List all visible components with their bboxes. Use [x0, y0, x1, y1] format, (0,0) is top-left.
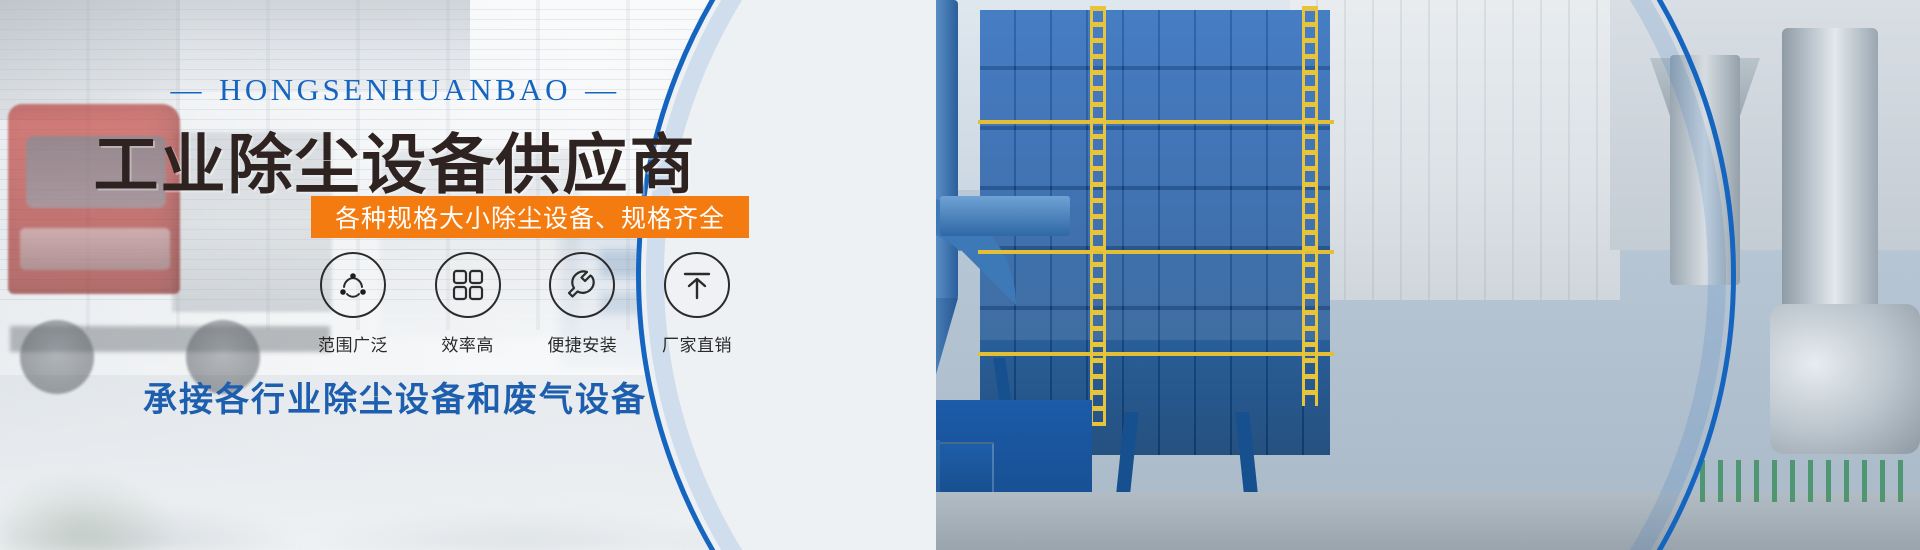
- feature-icon-circle: [549, 252, 615, 318]
- green-fence: [1700, 460, 1910, 502]
- share-nodes-icon: [335, 267, 371, 303]
- eyebrow-text: —HONGSENHUANBAO—: [0, 72, 790, 108]
- feature-icon-circle: [664, 252, 730, 318]
- page-title: 工业除尘设备供应商: [0, 112, 790, 206]
- feature-list: 范围广泛 效率高: [305, 252, 745, 356]
- feature-label: 范围广泛: [305, 331, 401, 356]
- hero-content: —HONGSENHUANBAO— 工业除尘设备供应商 各种规格大小除尘设备、规格…: [0, 0, 800, 550]
- subtitle-text: 各种规格大小除尘设备、规格齐全: [335, 199, 725, 235]
- feature-label: 效率高: [420, 331, 516, 356]
- feature-item-range[interactable]: 范围广泛: [305, 252, 401, 356]
- grid-four-squares-icon: [451, 268, 485, 302]
- feature-label: 便捷安装: [534, 331, 630, 356]
- wrench-icon: [563, 266, 601, 304]
- feature-item-installation[interactable]: 便捷安装: [534, 252, 630, 356]
- arc-divider-line: [636, 0, 1736, 550]
- storage-tank: [1770, 304, 1920, 454]
- feature-label: 厂家直销: [649, 331, 745, 356]
- tagline-text: 承接各行业除尘设备和废气设备: [0, 372, 790, 421]
- eyebrow-dash-left: —: [170, 72, 205, 108]
- hero-banner: —HONGSENHUANBAO— 工业除尘设备供应商 各种规格大小除尘设备、规格…: [0, 0, 1920, 550]
- feature-icon-circle: [435, 252, 501, 318]
- feature-icon-circle: [320, 252, 386, 318]
- metal-silo: [1782, 28, 1878, 328]
- eyebrow-label: HONGSENHUANBAO: [219, 72, 571, 107]
- arrow-up-to-line-icon: [680, 268, 714, 302]
- eyebrow-dash-right: —: [585, 72, 620, 108]
- feature-item-efficiency[interactable]: 效率高: [420, 252, 516, 356]
- feature-item-factory-direct[interactable]: 厂家直销: [649, 252, 745, 356]
- subtitle-orange-bar: 各种规格大小除尘设备、规格齐全: [311, 196, 749, 238]
